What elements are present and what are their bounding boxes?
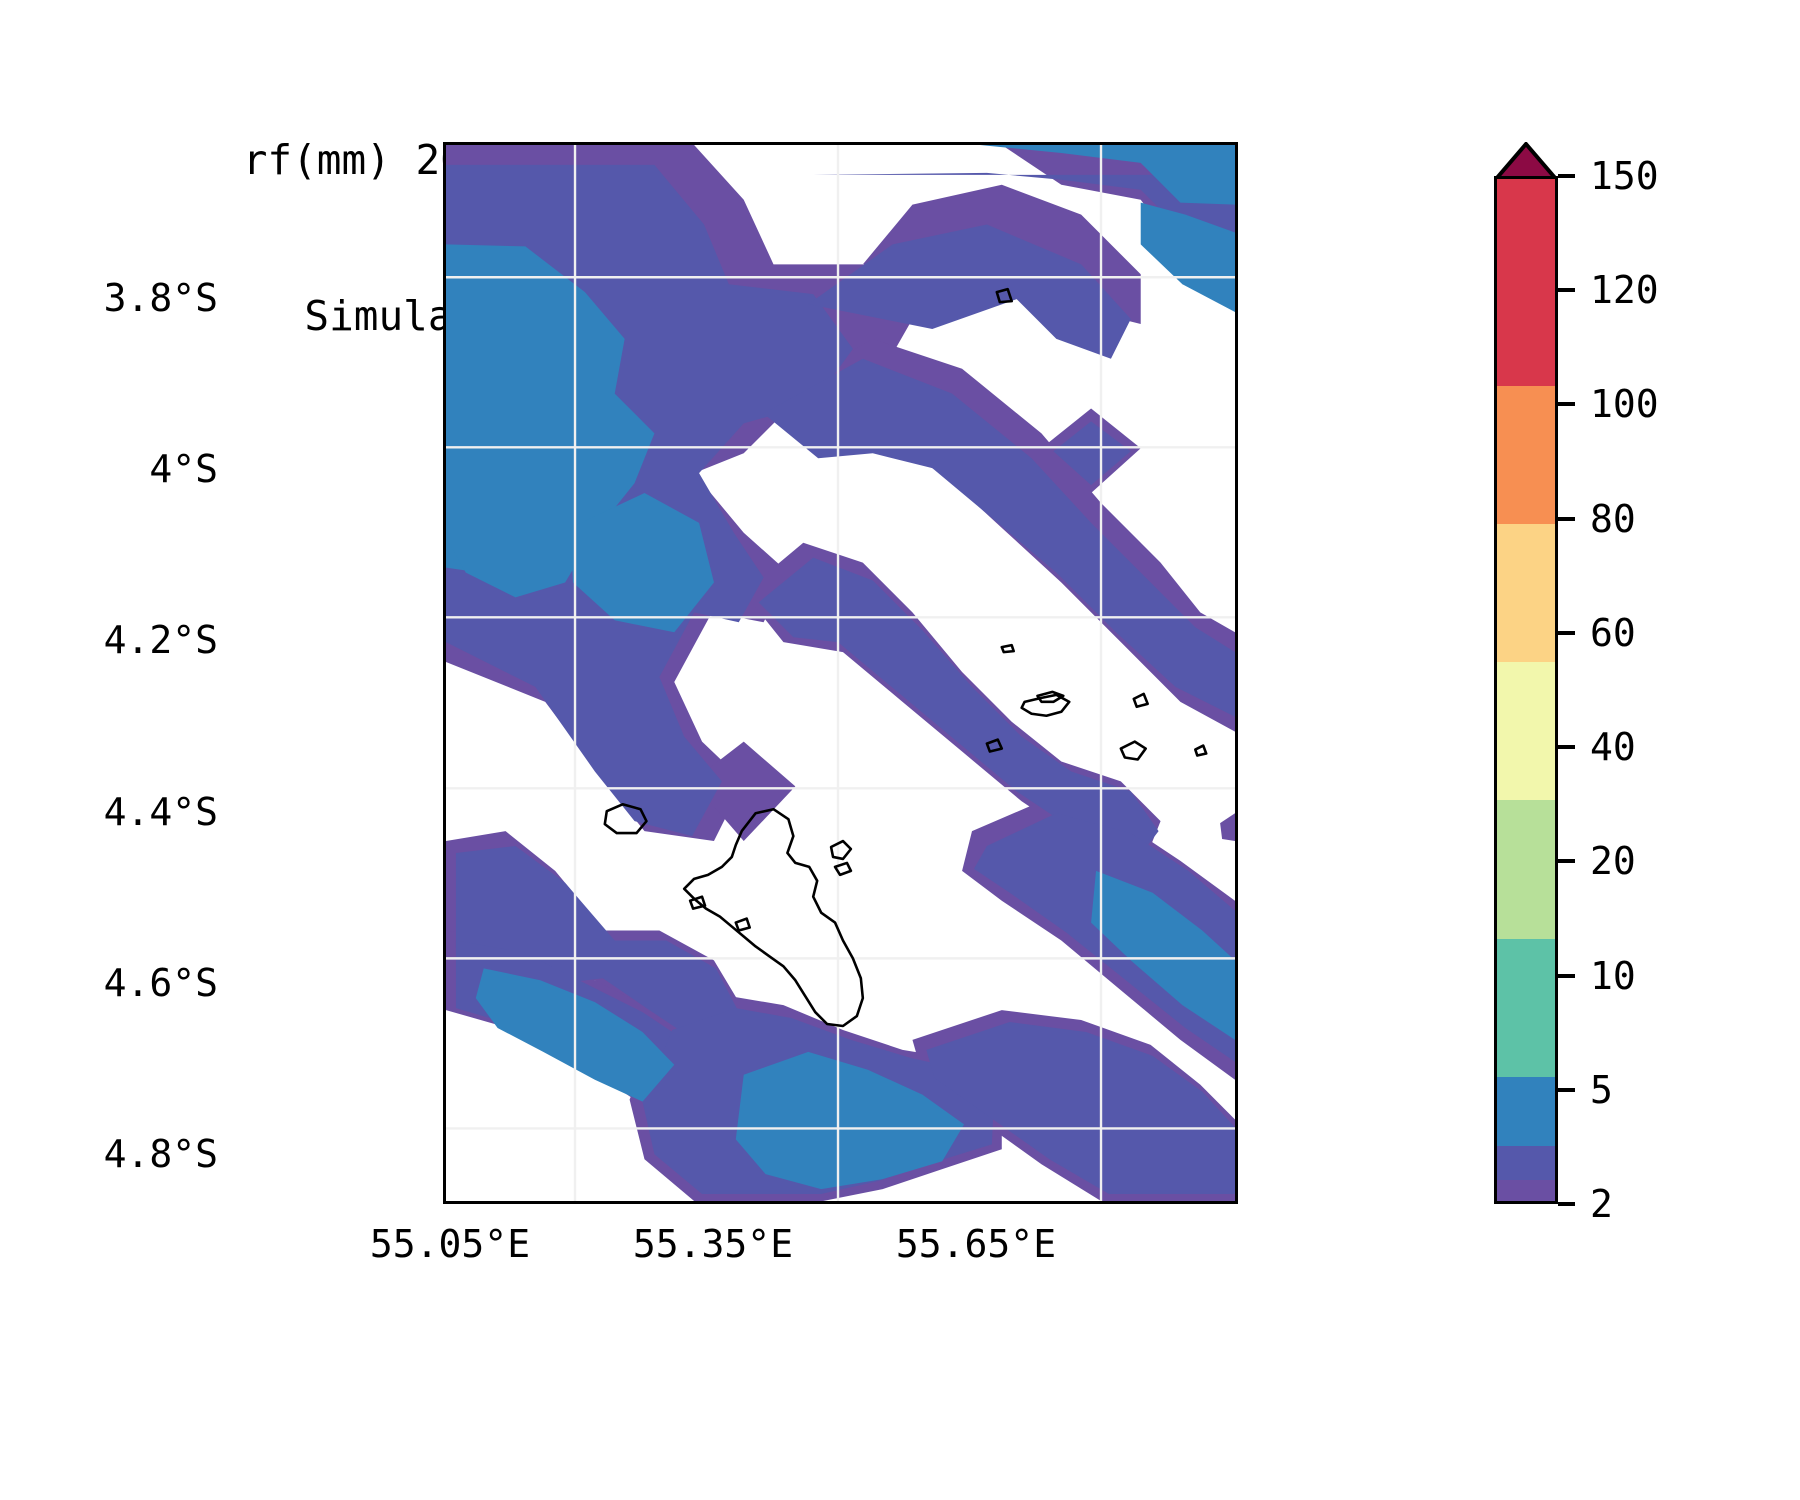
colorbar-extend-arrow <box>1494 142 1558 180</box>
colorbar-gradient[interactable] <box>1494 176 1558 1204</box>
cbar-tick-mark <box>1558 974 1575 978</box>
x-tick-label-55-65E: 55.65°E <box>806 1222 1146 1266</box>
y-tick-label-3-8S: 3.8°S <box>0 276 218 320</box>
rainfall-contour-layer <box>446 145 1235 1201</box>
cbar-segment-10-20 <box>1497 1077 1555 1146</box>
y-tick-label-4S: 4°S <box>0 447 218 491</box>
cbar-tick-label: 40 <box>1590 725 1636 769</box>
cbar-tick-mark <box>1558 517 1575 521</box>
cbar-segment-20-40 <box>1497 939 1555 1077</box>
cbar-tick-mark <box>1558 1088 1575 1092</box>
cbar-tick-label: 2 <box>1590 1182 1613 1226</box>
cbar-tick-mark <box>1558 631 1575 635</box>
cbar-tick-mark <box>1558 1202 1575 1206</box>
y-tick-label-4-4S: 4.4°S <box>0 790 218 834</box>
cbar-tick-mark <box>1558 174 1575 178</box>
colorbar[interactable]: 150 120 100 80 60 40 <box>1494 142 1558 1204</box>
cbar-segment-40-60 <box>1497 800 1555 938</box>
cbar-tick-mark <box>1558 288 1575 292</box>
y-tick-label-4-2S: 4.2°S <box>0 618 218 662</box>
cbar-segment-60-80 <box>1497 662 1555 800</box>
y-tick-label-4-8S: 4.8°S <box>0 1132 218 1176</box>
figure-canvas: rf(mm) 20250922_00 to 20250922_03 Simula… <box>0 0 1800 1500</box>
contour-svg <box>446 145 1235 1201</box>
cbar-tick-label: 150 <box>1590 154 1659 198</box>
cbar-tick-label: 5 <box>1590 1068 1613 1112</box>
colorbar-ticks: 150 120 100 80 60 40 <box>1558 142 1800 1204</box>
cbar-tick-mark <box>1558 402 1575 406</box>
map-plot-area[interactable] <box>443 142 1238 1204</box>
cbar-tick-label: 60 <box>1590 611 1636 655</box>
y-tick-label-4-6S: 4.6°S <box>0 961 218 1005</box>
cbar-tick-label: 120 <box>1590 268 1659 312</box>
cbar-segment-2-5 <box>1497 1180 1555 1201</box>
cbar-tick-label: 10 <box>1590 954 1636 998</box>
cbar-segment-80-100 <box>1497 524 1555 662</box>
cbar-segment-120-150 <box>1497 179 1555 386</box>
cbar-segment-5-10 <box>1497 1146 1555 1181</box>
cbar-tick-mark <box>1558 859 1575 863</box>
cbar-tick-mark <box>1558 745 1575 749</box>
cbar-tick-label: 80 <box>1590 497 1636 541</box>
cbar-tick-label: 100 <box>1590 382 1659 426</box>
cbar-tick-label: 20 <box>1590 839 1636 883</box>
cbar-segment-100-120 <box>1497 386 1555 524</box>
